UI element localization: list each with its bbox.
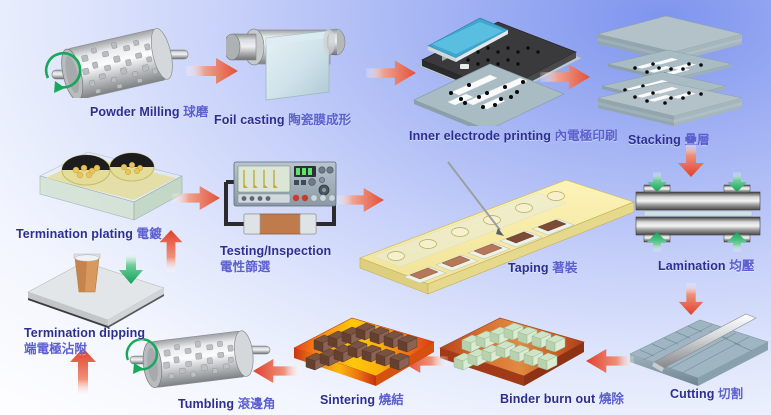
step-lamination: Lamination 均壓 — [628, 172, 768, 257]
label-termination-dipping: Termination dipping 端電極沾附 — [24, 326, 145, 356]
step-termination-plating: Termination plating 電鍍 — [36, 146, 186, 231]
label-foil-casting: Foil casting 陶瓷膜成形 — [214, 112, 351, 128]
rotation-arrow-icon — [133, 363, 144, 374]
label-cutting: Cutting 切割 — [670, 386, 743, 402]
termination-dipping-illustration — [22, 248, 172, 328]
label-sintering: Sintering 燒結 — [320, 392, 404, 408]
label-inner-electrode-printing: Inner electrode printing 內電極印刷 — [409, 128, 618, 144]
cutting-illustration — [624, 306, 771, 388]
arrow-cutting-to-binder-burn-out — [586, 348, 634, 374]
label-taping: Taping 著裝 — [508, 260, 577, 276]
testing-inspection-illustration — [216, 160, 356, 240]
step-binder-burn-out: Binder burn out 燒除 — [432, 306, 592, 393]
label-powder-milling: Powder Milling 球磨 — [90, 104, 208, 120]
foil-casting-illustration — [226, 18, 371, 103]
step-sintering: Sintering 燒結 — [288, 306, 438, 393]
arrow-printing-to-stacking — [540, 64, 590, 90]
step-stacking: Stacking 疊層 — [592, 14, 757, 131]
step-taping: Taping 著裝 — [352, 160, 642, 300]
rotation-arrow-icon — [54, 81, 65, 93]
label-testing-inspection: Testing/Inspection 電性篩選 — [220, 244, 331, 274]
binder-burn-out-illustration — [432, 306, 592, 388]
step-termination-dipping: Termination dipping 端電極沾附 — [22, 248, 172, 333]
step-foil-casting: Foil casting 陶瓷膜成形 — [226, 18, 371, 108]
lamination-illustration — [628, 172, 768, 252]
step-cutting: Cutting 切割 — [624, 306, 771, 393]
label-binder-burn-out: Binder burn out 燒除 — [500, 391, 624, 407]
stacking-illustration — [592, 14, 757, 126]
sintering-illustration — [288, 306, 438, 388]
process-flow-diagram: Powder Milling 球磨 Foil casting 陶瓷膜 — [0, 0, 771, 415]
step-powder-milling: Powder Milling 球磨 — [38, 18, 198, 103]
step-testing-inspection: Testing/Inspection 電性篩選 — [216, 160, 356, 245]
label-termination-plating: Termination plating 電鍍 — [16, 226, 162, 242]
label-tumbling: Tumbling 滾邊角 — [178, 396, 276, 412]
label-lamination: Lamination 均壓 — [658, 258, 754, 274]
arrow-plating-to-testing — [172, 186, 220, 210]
taping-illustration — [352, 160, 642, 295]
termination-plating-illustration — [36, 146, 186, 226]
powder-milling-illustration — [38, 18, 198, 98]
